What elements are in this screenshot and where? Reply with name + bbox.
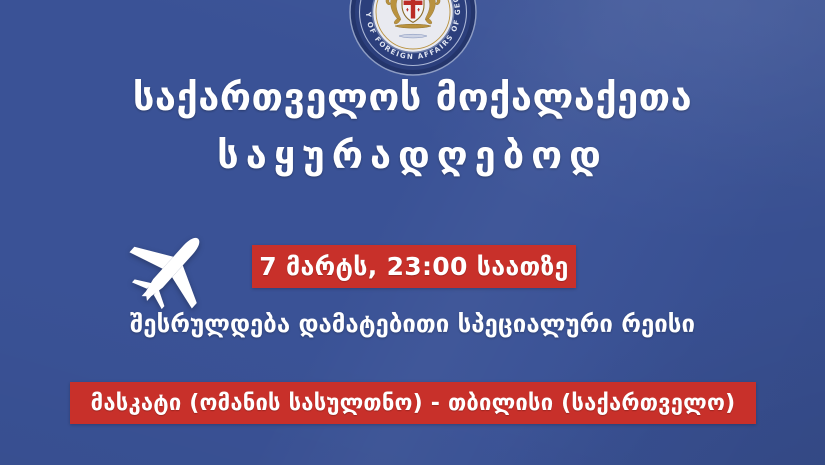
announcement-poster: MINISTRY OF FOREIGN AFFAIRS OF GEORGIA <box>0 0 825 465</box>
page-title-line-2: საყურადღებოდ <box>0 136 825 174</box>
airplane-icon <box>122 222 218 318</box>
status-badge-route: მასკატი (ომანის სასულთნო) - თბილისი (საქ… <box>70 382 756 424</box>
date-badge-label: 7 მარტს, 23:00 საათზე <box>259 252 568 281</box>
ministry-seal-icon: MINISTRY OF FOREIGN AFFAIRS OF GEORGIA <box>349 0 477 76</box>
page-title-line-1: საქართველოს მოქალაქეთა <box>0 78 825 116</box>
route-badge-label: მასკატი (ომანის სასულთნო) - თბილისი (საქ… <box>91 391 736 416</box>
status-badge-departure-datetime: 7 მარტს, 23:00 საათზე <box>252 245 576 288</box>
